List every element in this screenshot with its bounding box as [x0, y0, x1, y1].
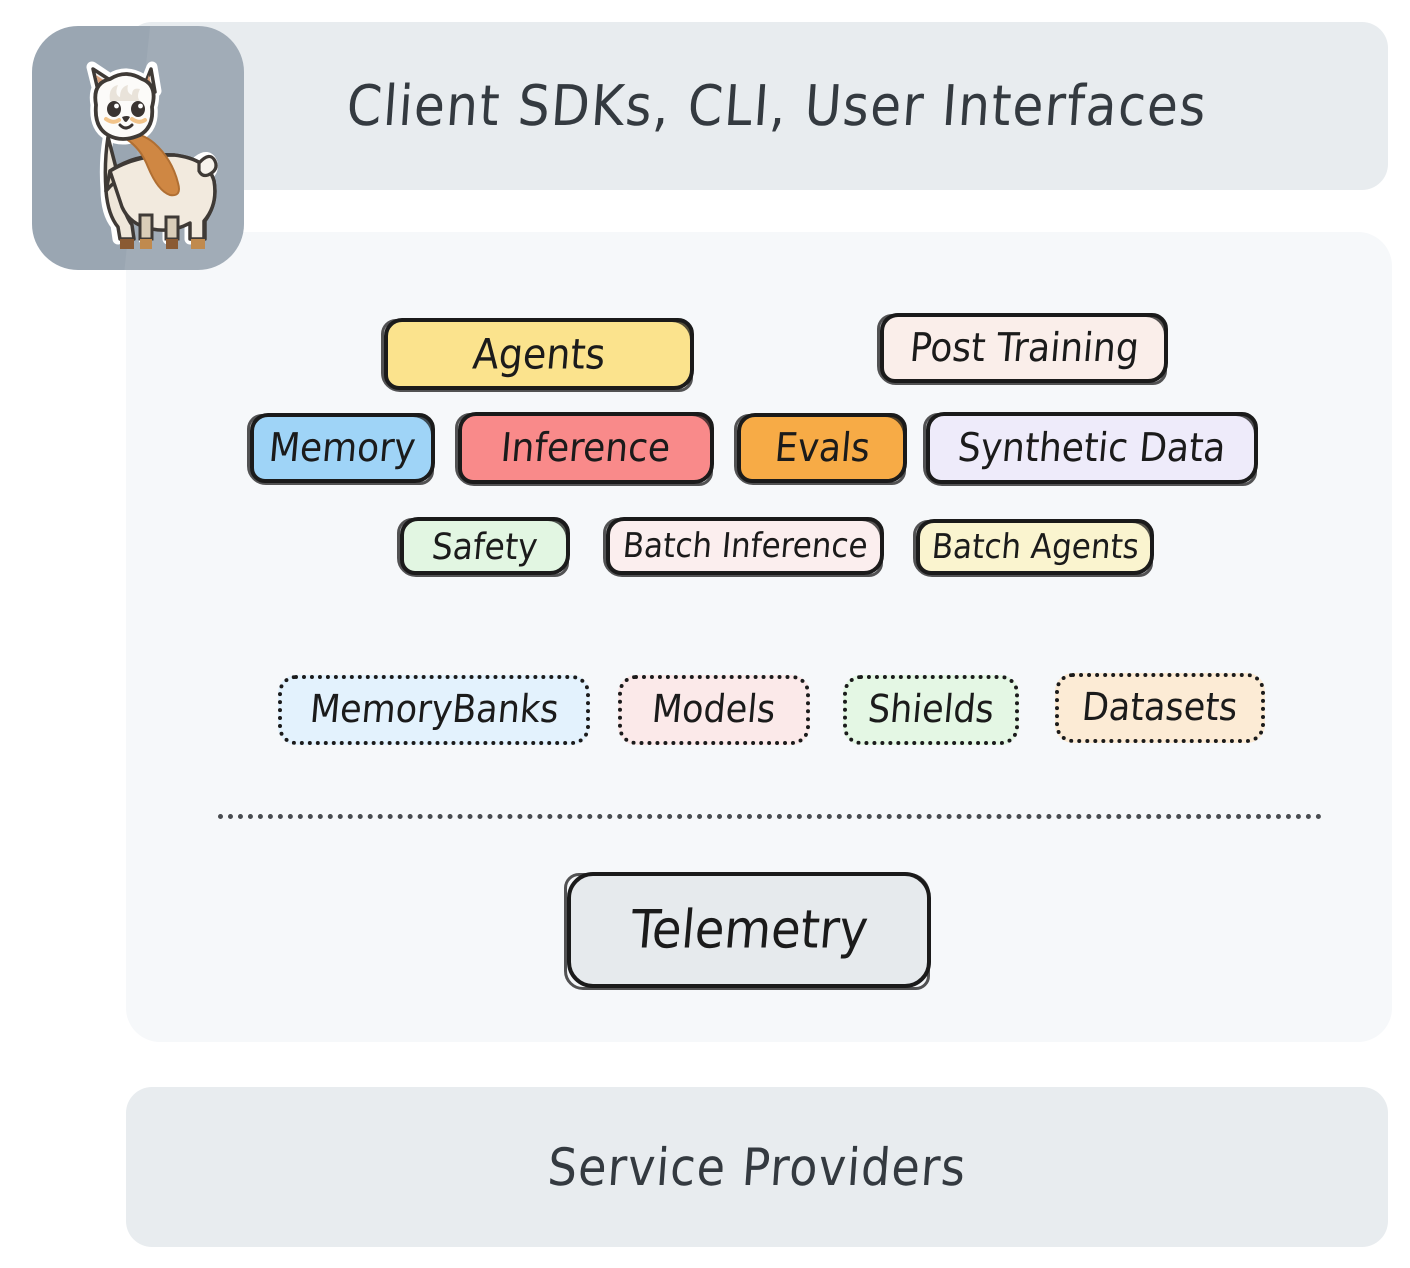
resource-box-label: Models — [650, 688, 777, 732]
resource-box-shields[interactable]: Shields — [843, 675, 1019, 745]
api-box-label: Agents — [471, 330, 608, 378]
resource-box-label: MemoryBanks — [308, 688, 560, 732]
api-box-label: Synthetic Data — [956, 425, 1227, 470]
api-box-label: Evals — [773, 425, 872, 470]
api-box-label: Batch Inference — [621, 526, 869, 566]
api-box-label: Batch Agents — [930, 527, 1140, 567]
diagram-canvas: Client SDKs, CLI, User Interfaces — [0, 0, 1410, 1268]
resource-box-datasets[interactable]: Datasets — [1055, 673, 1265, 743]
api-box-label: Post Training — [908, 325, 1141, 370]
llama-logo-icon — [32, 26, 244, 270]
telemetry-label: Telemetry — [628, 899, 870, 961]
resource-box-label: Shields — [866, 688, 996, 732]
api-box-agents[interactable]: Agents — [384, 318, 694, 390]
api-box-batch-agents[interactable]: Batch Agents — [916, 519, 1154, 575]
api-box-safety[interactable]: Safety — [400, 517, 570, 575]
api-box-evals[interactable]: Evals — [737, 413, 907, 483]
api-box-synthetic-data[interactable]: Synthetic Data — [926, 412, 1258, 484]
api-box-label: Inference — [499, 425, 672, 470]
resource-box-models[interactable]: Models — [618, 675, 810, 745]
resource-box-label: Datasets — [1080, 686, 1239, 730]
page-title: Client SDKs, CLI, User Interfaces — [345, 74, 1210, 139]
telemetry-box[interactable]: Telemetry — [567, 872, 931, 988]
api-box-label: Memory — [267, 425, 417, 470]
dotted-divider — [218, 814, 1322, 819]
service-providers-bar: Service Providers — [126, 1087, 1388, 1247]
footer-title: Service Providers — [546, 1137, 969, 1197]
client-layer-bar: Client SDKs, CLI, User Interfaces — [126, 22, 1388, 190]
api-box-post-training[interactable]: Post Training — [880, 313, 1168, 383]
llama-illustration-icon — [48, 43, 228, 253]
api-box-memory[interactable]: Memory — [250, 413, 435, 483]
api-box-batch-inference[interactable]: Batch Inference — [606, 517, 884, 575]
resource-box-memorybanks[interactable]: MemoryBanks — [278, 675, 590, 745]
api-box-label: Safety — [430, 525, 539, 568]
api-box-inference[interactable]: Inference — [458, 412, 714, 484]
